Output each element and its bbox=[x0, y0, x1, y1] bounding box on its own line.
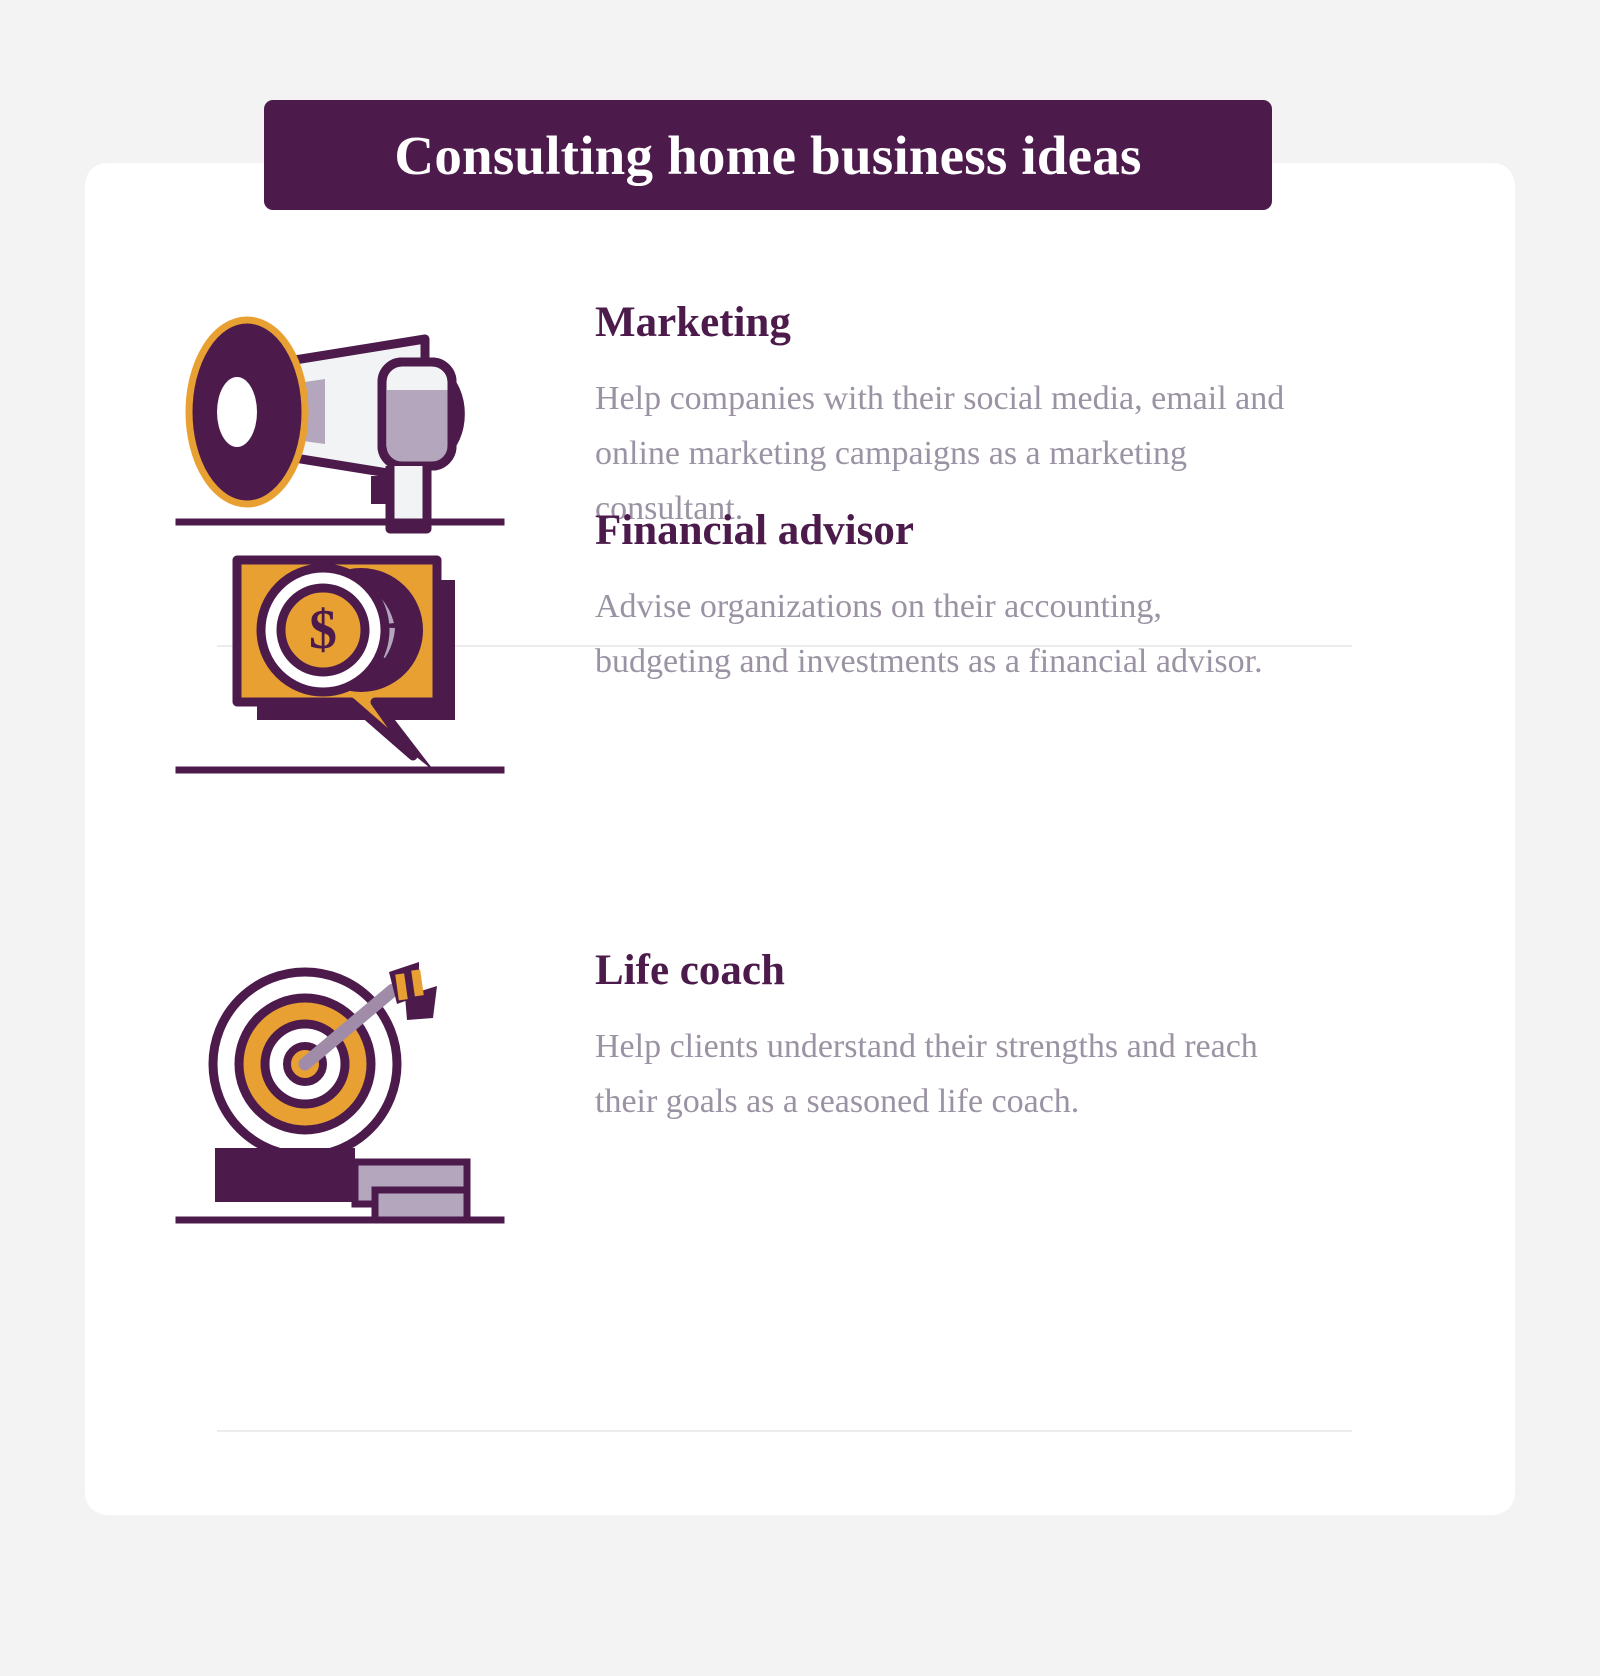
marketing-text: Marketing Help companies with their soci… bbox=[595, 300, 1515, 536]
page-title: Consulting home business ideas bbox=[394, 128, 1141, 183]
life-coach-text: Life coach Help clients understand their… bbox=[595, 948, 1515, 1129]
title-banner: Consulting home business ideas bbox=[264, 100, 1272, 210]
svg-text:$: $ bbox=[309, 599, 337, 661]
items-list: Marketing Help companies with their soci… bbox=[85, 163, 1515, 1378]
money-speech-bubble-icon: $ bbox=[175, 512, 505, 802]
list-item-financial-advisor: $ Financial advisor Advise organizations… bbox=[85, 508, 1515, 948]
target-arrow-podium-icon bbox=[175, 952, 505, 1242]
item-title-life-coach: Life coach bbox=[595, 948, 1395, 993]
item-title-financial-advisor: Financial advisor bbox=[595, 508, 1395, 553]
list-item-marketing: Marketing Help companies with their soci… bbox=[85, 163, 1515, 508]
item-description-life-coach: Help clients understand their strengths … bbox=[595, 1019, 1295, 1129]
infographic-page: Consulting home business ideas bbox=[0, 0, 1600, 1676]
item-title-marketing: Marketing bbox=[595, 300, 1395, 345]
money-bubble-icon-cell: $ bbox=[85, 508, 595, 802]
target-icon-cell bbox=[85, 948, 595, 1242]
row-divider-2 bbox=[217, 1430, 1352, 1432]
financial-advisor-text: Financial advisor Advise organizations o… bbox=[595, 508, 1515, 689]
item-description-financial-advisor: Advise organizations on their accounting… bbox=[595, 579, 1295, 689]
list-item-life-coach: Life coach Help clients understand their… bbox=[85, 948, 1515, 1378]
